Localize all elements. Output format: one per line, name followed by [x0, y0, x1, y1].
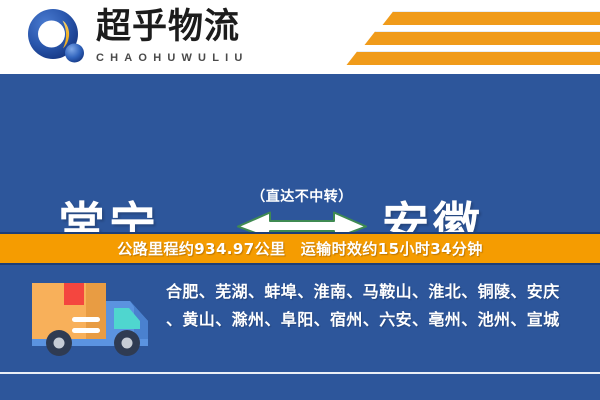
logistics-route-banner: 超乎物流 CHAOHUWULIU 常宁 （直达不中转） 【往返运输】 安徽 公路…	[0, 0, 600, 400]
distance-duration-band: 公路里程约934.97公里 运输时效约15小时34分钟	[0, 232, 600, 265]
direct-shipping-note: （直达不中转）	[228, 186, 376, 206]
brand-lockup: 超乎物流 CHAOHUWULIU	[96, 6, 296, 64]
covered-cities-list: 合肥、芜湖、蚌埠、淮南、马鞍山、淮北、铜陵、安庆 、黄山、滁州、阜阳、宿州、六安…	[166, 278, 590, 334]
brand-name-cn: 超乎物流	[96, 6, 296, 48]
route-panel: 常宁 （直达不中转） 【往返运输】 安徽	[0, 74, 600, 232]
covered-cities-line-1: 合肥、芜湖、蚌埠、淮南、马鞍山、淮北、铜陵、安庆	[166, 278, 590, 306]
delivery-truck-icon	[26, 277, 158, 361]
distance-duration-text: 公路里程约934.97公里 运输时效约15小时34分钟	[117, 238, 482, 259]
header-bar: 超乎物流 CHAOHUWULIU	[0, 0, 600, 74]
coverage-panel: 合肥、芜湖、蚌埠、淮南、马鞍山、淮北、铜陵、安庆 、黄山、滁州、阜阳、宿州、六安…	[0, 265, 600, 400]
brand-name-en: CHAOHUWULIU	[96, 52, 296, 64]
bottom-divider	[0, 372, 600, 374]
covered-cities-line-2: 、黄山、滁州、阜阳、宿州、六安、亳州、池州、宣城	[166, 306, 590, 334]
decorative-stripe-3	[347, 51, 600, 65]
decorative-stripe-1	[383, 11, 600, 25]
decorative-stripe-2	[365, 31, 600, 45]
circle-crescent-logo-icon	[26, 8, 88, 66]
